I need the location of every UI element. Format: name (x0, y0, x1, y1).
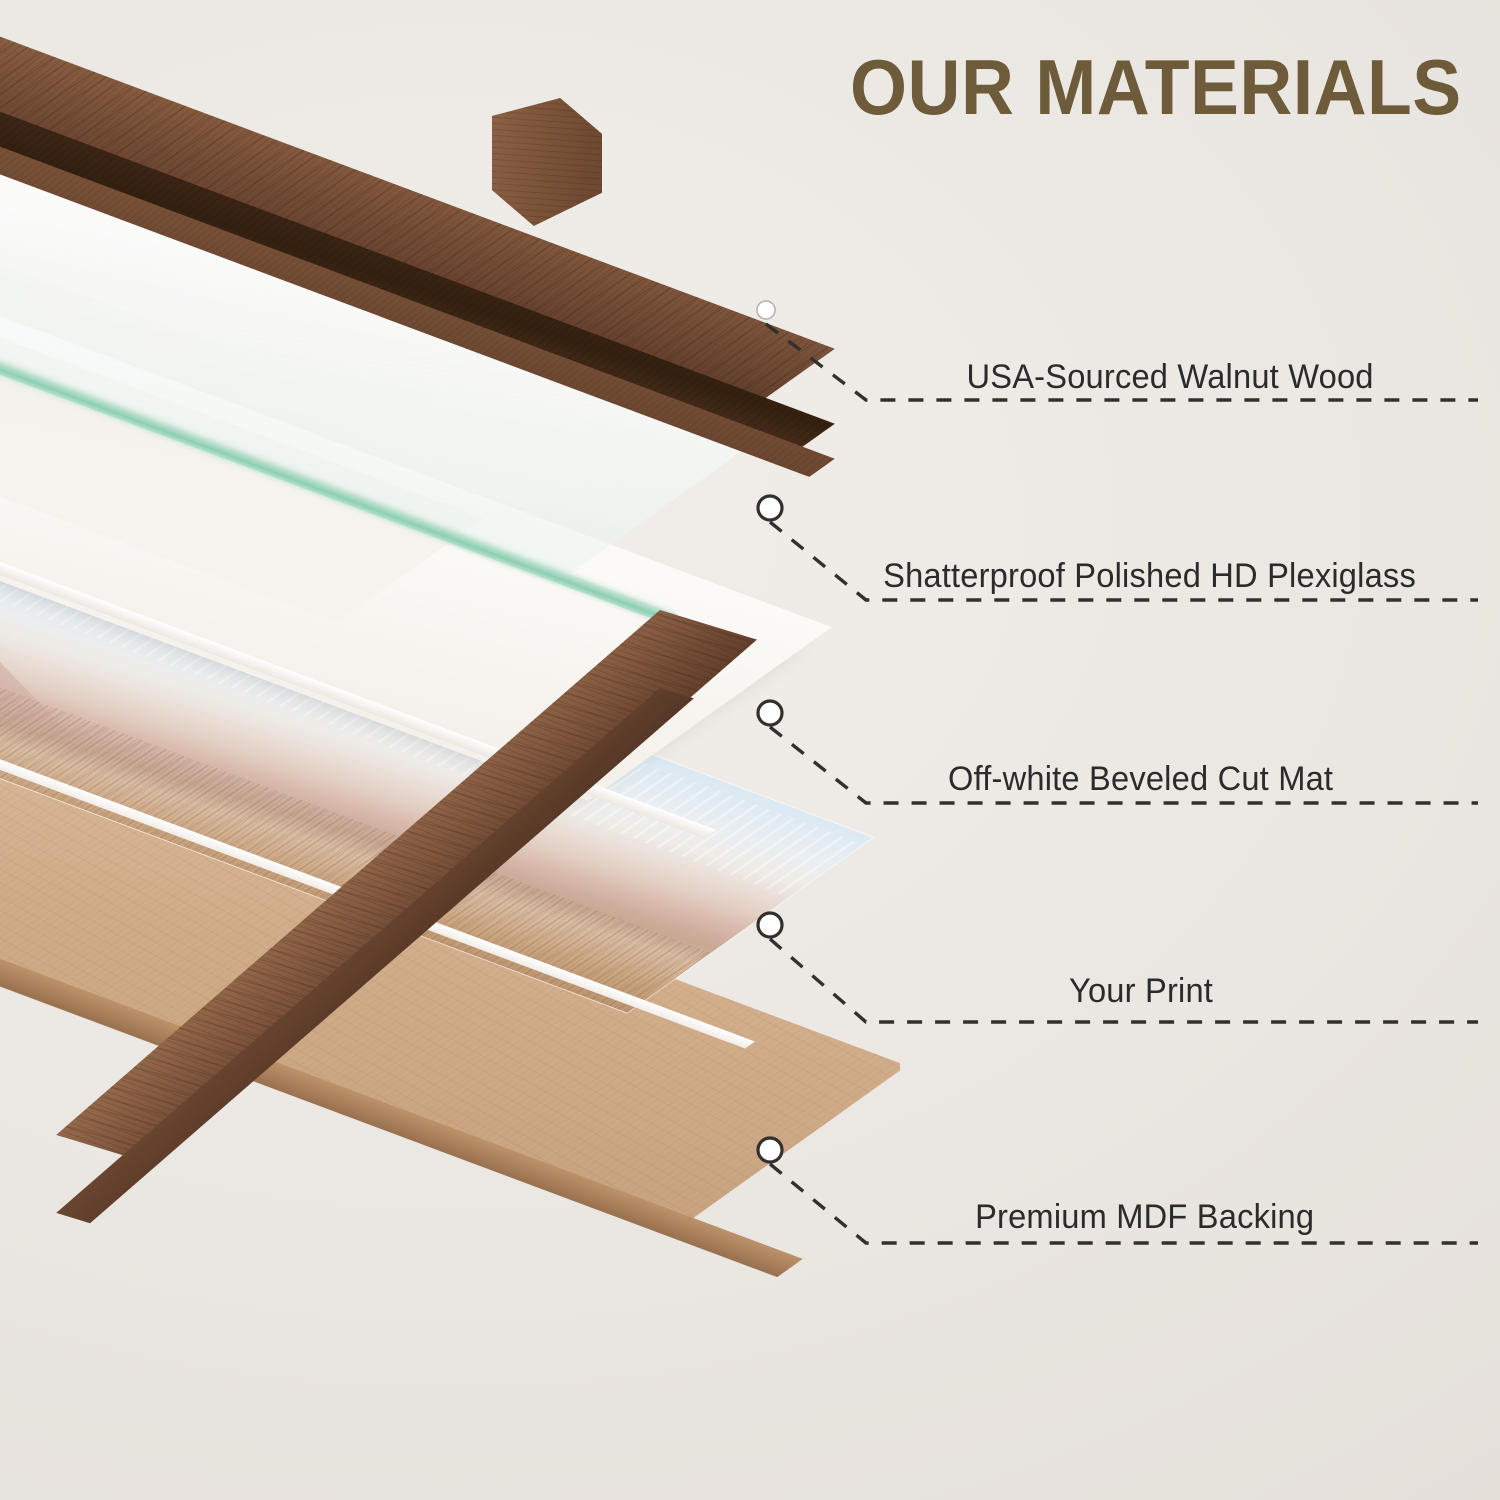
materials-infographic: OUR MATERIALS USA-Sourced Walnut Wood Sh… (0, 0, 1500, 1500)
callout-label-plexiglass: Shatterproof Polished HD Plexiglass (883, 557, 1416, 596)
exploded-frame-illustration (0, 0, 900, 1500)
walnut-frame-corner (0, 0, 900, 770)
frame-miter-corner-cap (492, 98, 602, 226)
page-title: OUR MATERIALS (850, 48, 1462, 126)
callout-label-cut-mat: Off-white Beveled Cut Mat (948, 760, 1333, 799)
callout-label-walnut-wood: USA-Sourced Walnut Wood (966, 358, 1373, 397)
callout-label-your-print: Your Print (1069, 972, 1213, 1011)
callout-label-mdf-backing: Premium MDF Backing (975, 1198, 1314, 1237)
